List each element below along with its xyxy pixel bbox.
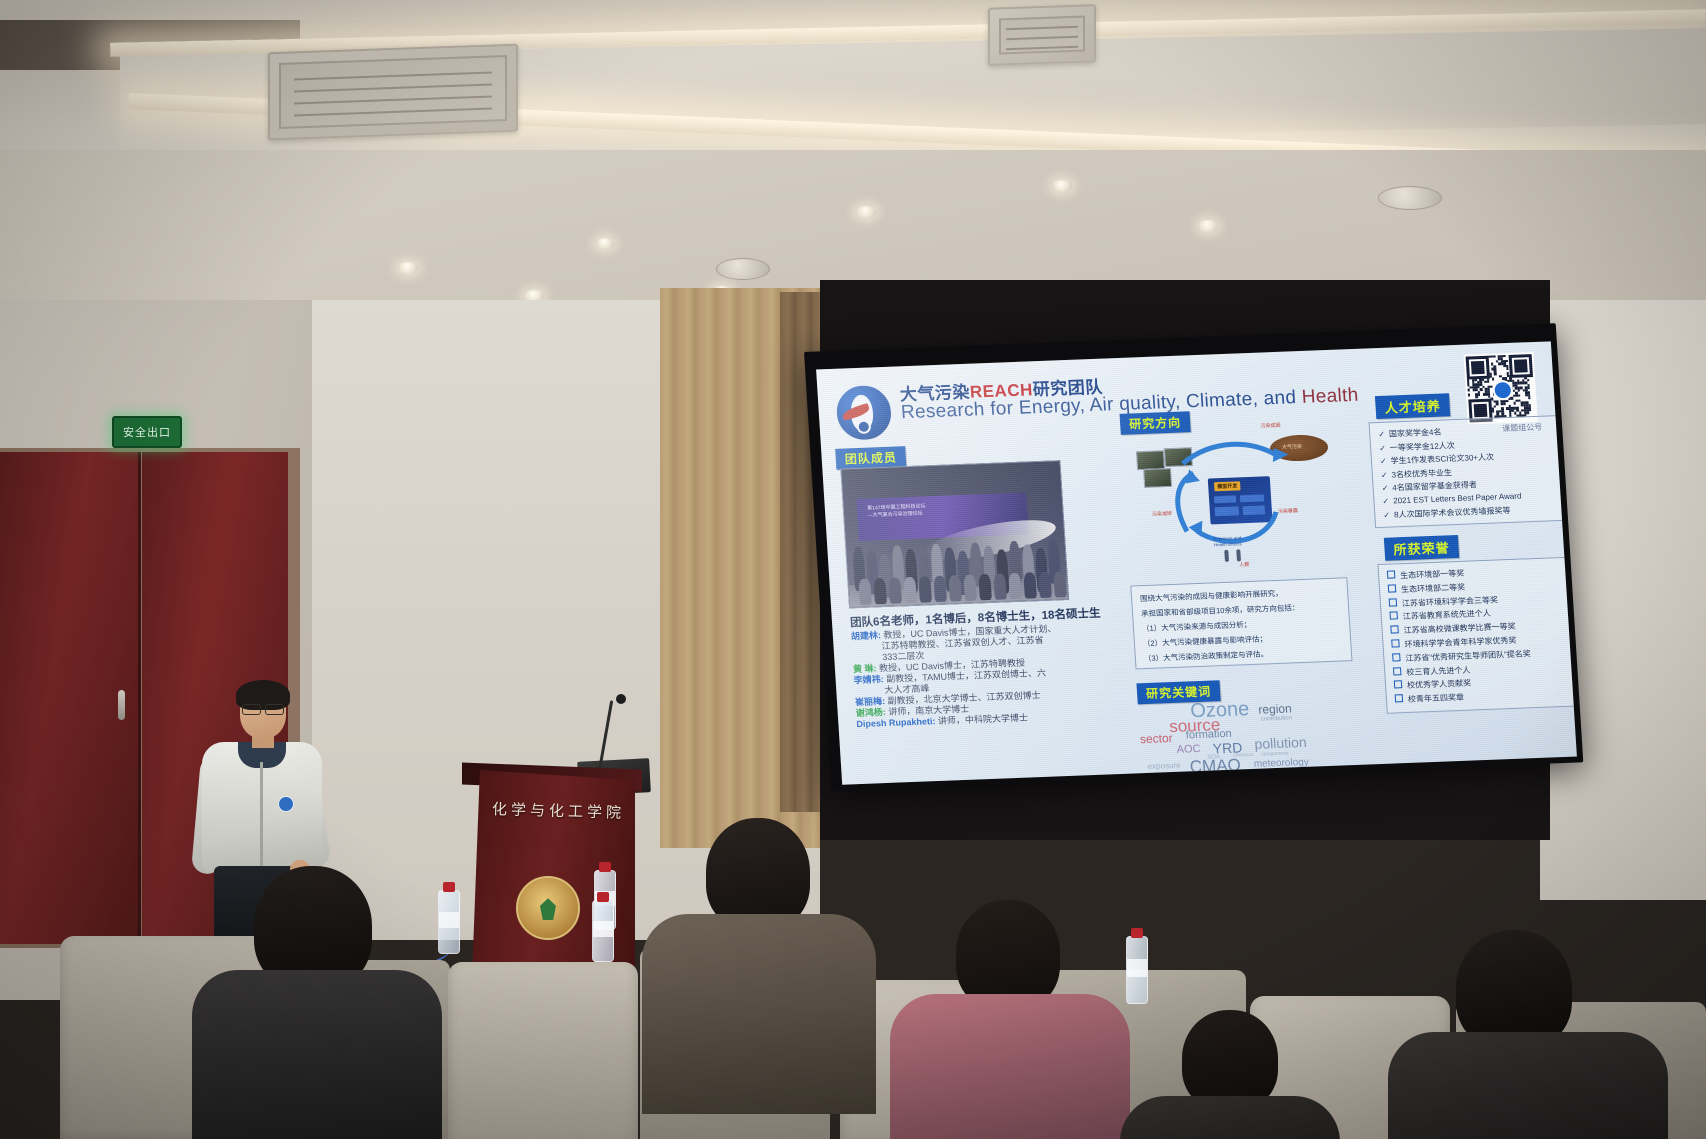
slide-content: 大气污染REACH研究团队 Research for Energy, Air q…	[816, 341, 1577, 784]
podium-label: 化学与化工学院	[492, 798, 626, 823]
water-bottle-1	[438, 890, 460, 954]
presenter-zipper	[260, 762, 263, 866]
reach-logo-icon	[833, 383, 895, 443]
honor-item: 江苏省环境科学学会三等奖	[1389, 594, 1499, 609]
talent-item: ✓学生1作发表SCI论文30+人次	[1380, 452, 1495, 467]
photo-banner-text: 第147场中国工程科技论坛—大气复合污染治理论坛	[867, 503, 926, 520]
talent-item: ✓3名校优秀毕业生	[1381, 467, 1453, 481]
door-seam	[138, 452, 141, 942]
downlight-6	[1198, 220, 1218, 232]
talent-item: ✓8人次国际学术会议优秀墙报奖等	[1383, 505, 1511, 521]
research-direction-diagram: 模型开发 大气污染 污染成因 污染暴露 污染减排	[1121, 422, 1340, 580]
talent-item: ✓4名国家留学基金获得者	[1381, 479, 1477, 494]
description-line: （2）大气污染健康暴露与影响评估；	[1143, 634, 1268, 648]
presenter-badge	[278, 796, 294, 812]
led-presentation-screen[interactable]: 大气污染REACH研究团队 Research for Energy, Air q…	[804, 323, 1583, 791]
honors-panel: 生态环境部一等奖生态环境部二等奖江苏省环境科学学会三等奖江苏省教育系统先进个人江…	[1377, 556, 1576, 713]
door-handle[interactable]	[118, 690, 125, 720]
water-bottle-2	[592, 900, 614, 962]
honor-item: 生态环境部一等奖	[1387, 568, 1465, 582]
keyword: sector	[1140, 732, 1173, 745]
keyword: region	[1258, 702, 1292, 715]
keyword: contribution	[1261, 715, 1292, 722]
glasses-icon	[242, 704, 284, 713]
description-line: （3）大气污染防治政策制定与评估。	[1144, 649, 1269, 663]
talent-item: ✓一等奖学金12人次	[1379, 440, 1455, 454]
downlight-1	[398, 262, 418, 274]
description-line: （1）大气污染来源与成因分析；	[1142, 620, 1252, 633]
qr-code-icon[interactable]	[1463, 352, 1537, 425]
section-tag-honors: 所获荣誉	[1384, 535, 1459, 561]
air-vent-left-grille	[279, 55, 507, 129]
honor-item: 校三育人先进个人	[1393, 664, 1471, 678]
talent-item: ✓国家奖学金4名	[1378, 427, 1442, 440]
honor-item: 生态环境部二等奖	[1388, 582, 1466, 596]
keyword: AOC	[1176, 744, 1201, 756]
title-en-health: Health	[1301, 385, 1359, 408]
downlight-7	[596, 238, 614, 249]
honor-item: 校优秀学人贡献奖	[1394, 678, 1472, 692]
description-line: 围绕大气污染的成因与健康影响开展研究，	[1140, 589, 1283, 603]
ceiling-speaker-right	[1378, 186, 1442, 210]
keyword: pollution	[1254, 735, 1307, 751]
honor-item: 江苏省教育系统先进个人	[1389, 608, 1491, 623]
ceiling-speaker	[716, 258, 770, 280]
description-line: 承担国家和省部级项目10余项，研究方向包括：	[1141, 603, 1300, 618]
conference-hall-photo: 安全出口 大气污染REACH研究团队 Research for Energy, …	[0, 0, 1706, 1139]
water-bottle-3	[1126, 936, 1148, 1004]
research-description-box: 围绕大气污染的成因与健康影响开展研究，承担国家和省部级项目10余项，研究方向包括…	[1130, 577, 1352, 669]
emergency-exit-sign: 安全出口	[112, 416, 182, 448]
member-name: Dipesh Rupakheti:	[856, 716, 936, 729]
air-vent-right	[988, 4, 1096, 66]
talent-item: ✓2021 EST Letters Best Paper Award	[1382, 491, 1521, 505]
keyword: exposure	[1147, 762, 1180, 771]
honor-item: 江苏省高校微课教学比赛一等奖	[1390, 621, 1516, 637]
team-photo: 第147场中国工程科技论坛—大气复合污染治理论坛	[840, 460, 1069, 608]
honor-item: 环境科学学会青年科学家优秀奖	[1391, 635, 1517, 651]
air-vent-left	[268, 44, 518, 141]
talent-panel: ✓国家奖学金4名✓一等奖学金12人次✓学生1作发表SCI论文30+人次✓3名校优…	[1369, 415, 1576, 528]
downlight-4	[856, 206, 876, 218]
honor-item: 江苏省“优秀研究生导师团队”提名奖	[1392, 648, 1531, 664]
section-tag-talent: 人才培养	[1375, 393, 1450, 419]
university-emblem-icon	[516, 876, 580, 940]
chair-3	[448, 962, 638, 1139]
microphone-head-icon	[616, 694, 626, 704]
diagram-arrows	[1121, 422, 1340, 580]
exit-sign-label: 安全出口	[123, 424, 171, 440]
downlight-5	[1052, 180, 1072, 192]
honor-item: 校青年五四奖章	[1395, 692, 1465, 706]
air-vent-right-grille	[999, 15, 1085, 54]
